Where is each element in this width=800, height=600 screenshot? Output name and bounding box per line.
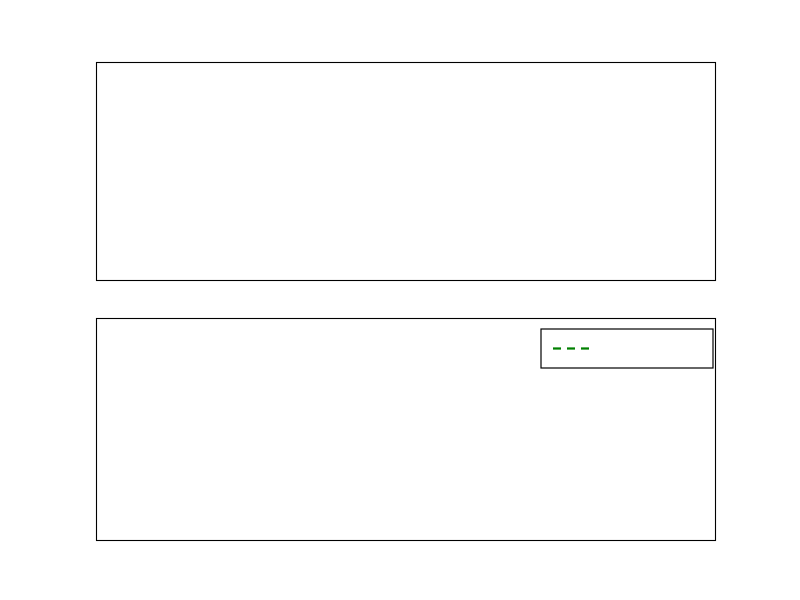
matplotlib-figure bbox=[0, 0, 800, 600]
figure-background bbox=[0, 0, 800, 600]
figure-canvas bbox=[0, 0, 800, 600]
legend-box bbox=[541, 329, 713, 368]
legend[interactable] bbox=[541, 329, 713, 368]
